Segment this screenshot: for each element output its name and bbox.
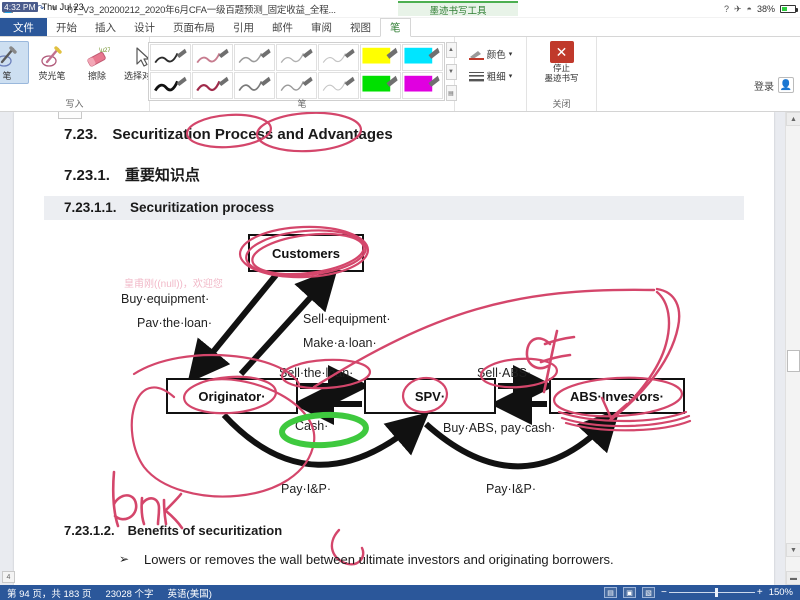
tab-mailings[interactable]: 邮件 <box>263 18 302 36</box>
read-mode-icon[interactable]: ▣ <box>623 587 636 598</box>
tab-home[interactable]: 开始 <box>47 18 86 36</box>
tab-insert[interactable]: 插入 <box>86 18 125 36</box>
highlighter-button[interactable]: 荧光笔 <box>30 41 74 84</box>
diagram-node-customers: Customers <box>248 234 364 272</box>
diagram-node-originator: Originator· <box>166 378 298 414</box>
ribbon: 笔 荧光笔 \u2715 <box>0 37 800 112</box>
pen-swatch[interactable] <box>234 72 275 99</box>
zoom-out-button[interactable]: − <box>661 587 667 598</box>
diagram-label-make-a-loan: Make·a·loan· <box>303 336 377 350</box>
ribbon-group-pen-options: 颜色 ▾ 粗细 ▾ <box>455 37 527 111</box>
airplane-mode-icon: ✈ <box>734 4 742 15</box>
pen-swatch[interactable] <box>150 44 191 71</box>
diagram-label-cash: Cash· <box>295 419 328 433</box>
stop-inking-button[interactable]: ✕ 停止 墨迹书写 <box>534 39 590 84</box>
pen-thickness-label: 粗细 <box>487 69 506 83</box>
wifi-icon: ◓ <box>747 4 752 14</box>
titlebar-right-cluster: ? ✈ ◓ 38% <box>724 0 796 18</box>
bullet-text: Lowers or removes the wall between ultim… <box>144 552 614 567</box>
zoom-track[interactable] <box>669 592 755 593</box>
status-bar-right: ▤ ▣ ▧ − + 150% <box>604 587 800 598</box>
highlighter-swatch[interactable] <box>360 72 401 99</box>
pen-swatch[interactable] <box>234 44 275 71</box>
ribbon-group-close-label: 关闭 <box>527 97 596 110</box>
status-bar: 第 94 页，共 183 页 23028 个字 英语(美国) ▤ ▣ ▧ − +… <box>0 585 800 600</box>
document-canvas[interactable]: 7.23. Securitization Process and Advanta… <box>0 112 800 585</box>
diagram-label-buy-equipment: Buy·equipment· <box>121 292 209 306</box>
pen-color-button[interactable]: 颜色 ▾ <box>467 45 515 63</box>
stop-inking-label-1: 停止 <box>553 64 570 73</box>
ribbon-group-write: 笔 荧光笔 \u2715 <box>0 37 150 111</box>
scroll-split-icon[interactable]: ▬ <box>786 571 800 585</box>
signin-label[interactable]: 登录 <box>754 78 774 93</box>
tab-file[interactable]: 文件 <box>0 18 47 36</box>
tab-references[interactable]: 引用 <box>224 18 263 36</box>
zoom-in-button[interactable]: + <box>757 587 763 598</box>
pen-swatch[interactable] <box>276 44 317 71</box>
diagram-label-pay-the-loan: Pav·the·loan· <box>137 316 212 330</box>
securitization-diagram: Customers Originator· SPV· ABS·Investors… <box>14 112 774 585</box>
avatar[interactable]: 👤 <box>778 77 794 93</box>
pen-button-label: 笔 <box>2 72 11 81</box>
pen-swatch[interactable] <box>318 44 359 71</box>
color-icon <box>469 49 484 60</box>
page-indicator[interactable]: 第 94 页，共 183 页 <box>0 586 98 600</box>
ribbon-group-pen-label: 笔 <box>150 97 454 110</box>
diagram-label-pay-ip-right: Pay·I&P· <box>486 482 536 496</box>
close-icon: ✕ <box>550 41 574 63</box>
diagram-arrows <box>14 112 774 585</box>
tab-page-layout[interactable]: 页面布局 <box>164 18 224 36</box>
bullet-arrow-icon: ➢ <box>119 552 129 566</box>
scroll-down-icon[interactable]: ▼ <box>786 543 800 557</box>
tab-pen[interactable]: 笔 <box>380 18 411 37</box>
web-layout-icon[interactable]: ▧ <box>642 587 655 598</box>
os-clock-time: 4:32 PM <box>2 2 38 12</box>
pen-gallery[interactable] <box>148 42 445 101</box>
contextual-tab-ink-tools: 墨迹书写工具 <box>398 1 518 16</box>
ribbon-group-close: ✕ 停止 墨迹书写 关闭 <box>527 37 597 111</box>
battery-icon <box>780 5 796 13</box>
pen-swatch[interactable] <box>192 44 233 71</box>
tab-review[interactable]: 审阅 <box>302 18 341 36</box>
pen-swatch[interactable] <box>192 72 233 99</box>
diagram-label-sell-equipment: Sell·equipment· <box>303 312 391 326</box>
pen-thickness-button[interactable]: 粗细 ▾ <box>467 67 515 85</box>
document-title: 07_V3_20200212_2020年6月CFA一级百题预测_固定收益_全程.… <box>68 2 336 16</box>
os-clock-date: Thu Jul 23 <box>42 2 84 12</box>
os-clock-overlay: 4:32 PM Thu Jul 23 <box>2 0 84 14</box>
eraser-button-label: 擦除 <box>88 72 106 81</box>
scroll-up-icon[interactable]: ▲ <box>786 112 800 126</box>
zoom-slider[interactable]: − + <box>661 587 763 598</box>
diagram-node-spv: SPV· <box>364 378 496 414</box>
language-indicator[interactable]: 英语(美国) <box>161 586 219 600</box>
tab-view[interactable]: 视图 <box>341 18 380 36</box>
ribbon-group-pen: ▲ ▼ ▤ 笔 <box>150 37 455 111</box>
pen-swatch[interactable] <box>150 72 191 99</box>
word-application-window: 💾 ↶ ↷ ▾ 07_V3_20200212_2020年6月CFA一级百题预测_… <box>0 0 800 600</box>
vertical-scrollbar[interactable]: ▲ ▼ ▬ <box>785 112 800 585</box>
highlighter-swatch[interactable] <box>360 44 401 71</box>
ink-annotation-layer <box>14 112 774 585</box>
ribbon-group-write-label: 写入 <box>0 97 149 110</box>
print-layout-icon[interactable]: ▤ <box>604 587 617 598</box>
chevron-down-icon[interactable]: ▾ <box>509 72 513 80</box>
pen-color-label: 颜色 <box>487 47 506 61</box>
document-page[interactable]: 7.23. Securitization Process and Advanta… <box>14 112 774 585</box>
diagram-node-abs-investors: ABS·Investors· <box>549 378 685 414</box>
ribbon-tab-strip: 文件 开始 插入 设计 页面布局 引用 邮件 审阅 视图 笔 <box>0 18 800 37</box>
battery-percent-label: 38% <box>757 4 775 14</box>
highlighter-swatch[interactable] <box>402 44 443 71</box>
diagram-label-sell-abs: Sell·ABS· <box>477 366 531 380</box>
tab-design[interactable]: 设计 <box>125 18 164 36</box>
diagram-label-buy-abs-pay-cash: Buy·ABS, pay·cash· <box>443 421 556 435</box>
help-icon[interactable]: ? <box>724 4 729 14</box>
pen-icon <box>0 44 20 70</box>
diagram-label-pay-ip-left: Pay·I&P· <box>281 482 331 496</box>
eraser-button[interactable]: \u2715 擦除 <box>75 41 119 84</box>
chevron-down-icon[interactable]: ▾ <box>509 50 513 58</box>
thickness-icon <box>469 71 484 82</box>
highlighter-button-label: 荧光笔 <box>38 72 65 81</box>
pen-swatch[interactable] <box>318 72 359 99</box>
zoom-thumb[interactable] <box>715 588 718 597</box>
highlighter-icon <box>39 44 65 70</box>
zoom-level-label[interactable]: 150% <box>769 587 793 598</box>
word-count[interactable]: 23028 个字 <box>98 586 160 600</box>
pen-swatch[interactable] <box>276 72 317 99</box>
diagram-label-sell-the-loan: Sell·the·loan· <box>279 366 353 380</box>
signin-area[interactable]: 登录 👤 <box>754 77 794 93</box>
stop-inking-label-2: 墨迹书写 <box>544 74 578 83</box>
heading-7-23-1-2: 7.23.1.2. Benefits of securitization <box>64 523 282 538</box>
pen-button[interactable]: 笔 <box>0 41 29 84</box>
scrollbar-thumb[interactable] <box>787 350 800 372</box>
eraser-icon: \u2715 <box>84 44 110 70</box>
highlighter-swatch[interactable] <box>402 72 443 99</box>
horizontal-scroll-nub[interactable]: 4 <box>2 571 15 583</box>
